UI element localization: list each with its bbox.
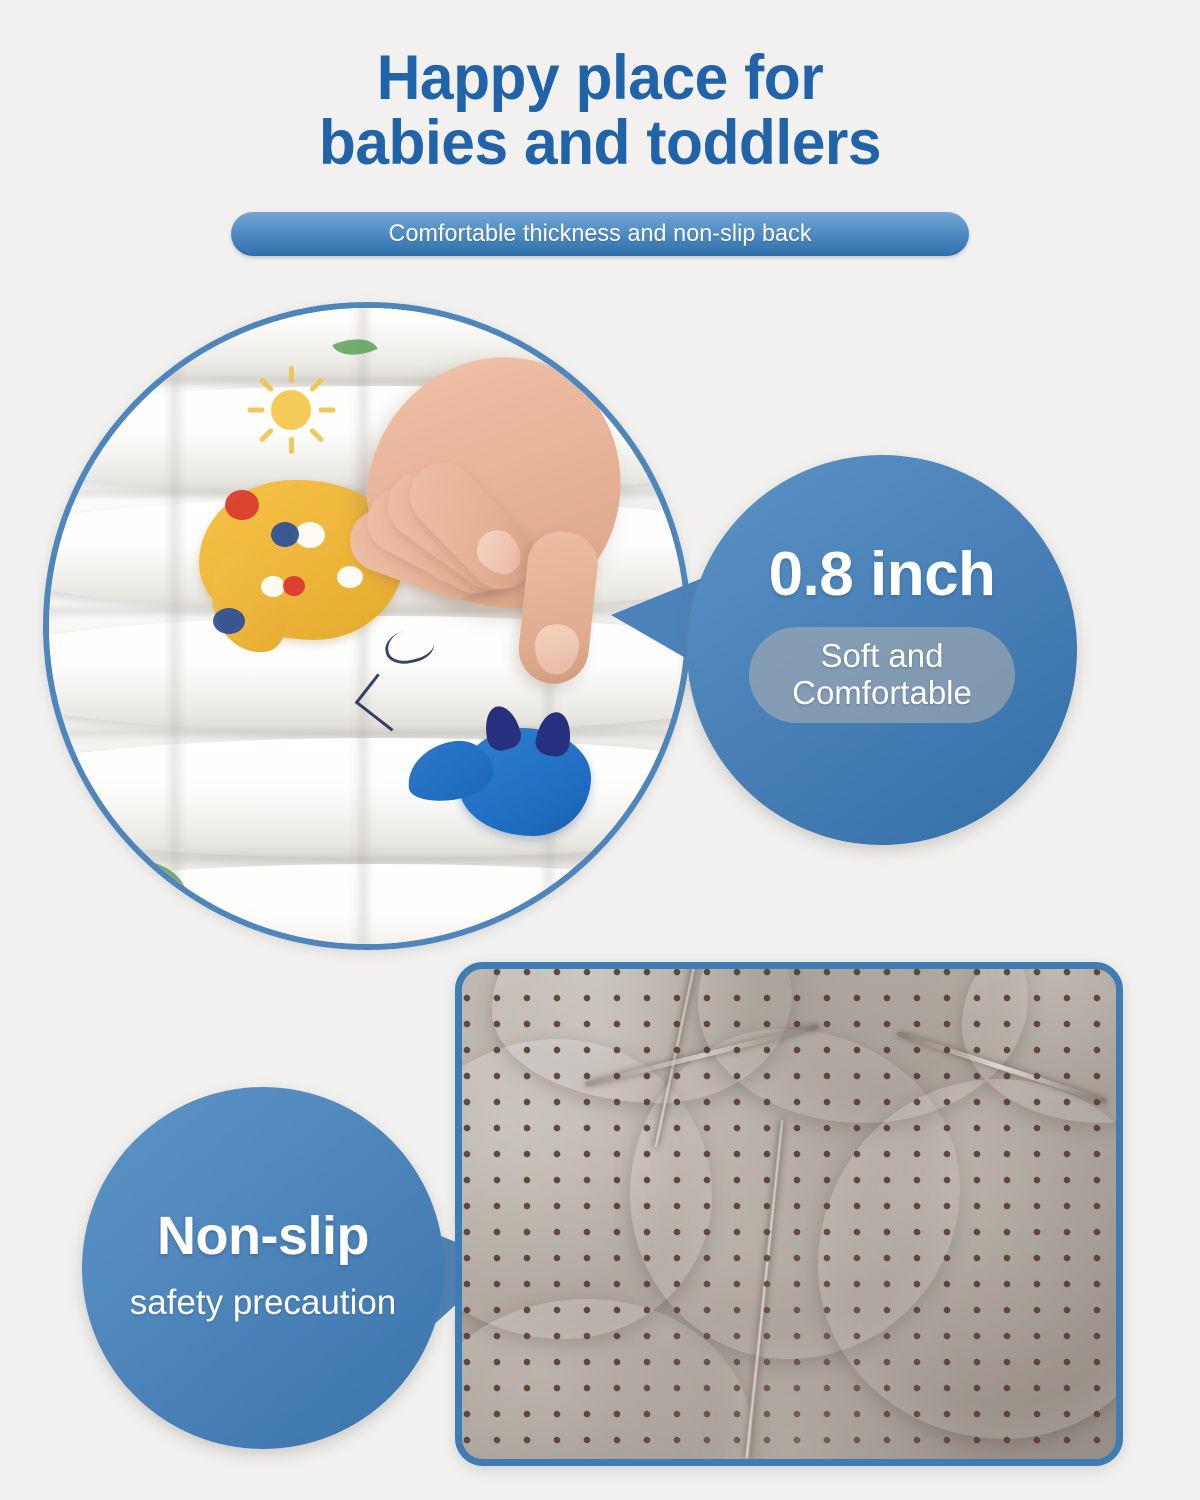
sun-ray [259,377,275,393]
bird-print [459,728,591,836]
print-spot-red [225,490,259,520]
print-spot-blue [213,608,245,634]
nonslip-dots-texture [455,962,1123,1466]
print-spot-red [283,576,305,596]
callout-bubble: 0.8 inch Soft and Comfortable [687,455,1077,845]
sun-ray [248,408,265,413]
thickness-sub-line-1: Soft and [792,638,972,675]
page-title: Happy place for babies and toddlers [24,0,1176,176]
print-spot-blue [271,522,299,547]
thickness-callout: 0.8 inch Soft and Comfortable [687,455,1077,845]
nonslip-title: Non-slip [82,1205,444,1267]
sun-ray [289,366,294,383]
thickness-sub-text: Soft and Comfortable [792,638,972,712]
nonslip-fabric [462,969,1116,1459]
sun-core [271,390,311,430]
mattress-surface [49,308,685,944]
nonslip-backing-photo [455,962,1123,1466]
fingernail [469,522,530,583]
nonslip-bubble: Non-slip safety precaution [82,1087,444,1449]
subtitle-text: Comfortable thickness and non-slip back [388,220,811,248]
thickness-value: 0.8 inch [687,539,1077,610]
title-line-1: Happy place for [24,46,1176,111]
thickness-sub-line-2: Comfortable [792,675,972,712]
sun-ray [289,437,294,454]
thickness-sub-badge: Soft and Comfortable [749,627,1015,723]
thumbnail [532,622,581,676]
nonslip-subtitle: safety precaution [82,1283,444,1323]
quilt-vertical-seam [167,302,183,950]
hand-pressing [317,356,647,686]
nonslip-callout: Non-slip safety precaution [82,1087,444,1449]
subtitle-banner: Comfortable thickness and non-slip back [231,212,969,256]
print-spot [261,576,285,597]
mattress-top-photo [43,302,691,950]
sun-ray [259,427,275,443]
title-line-2: babies and toddlers [24,111,1176,176]
